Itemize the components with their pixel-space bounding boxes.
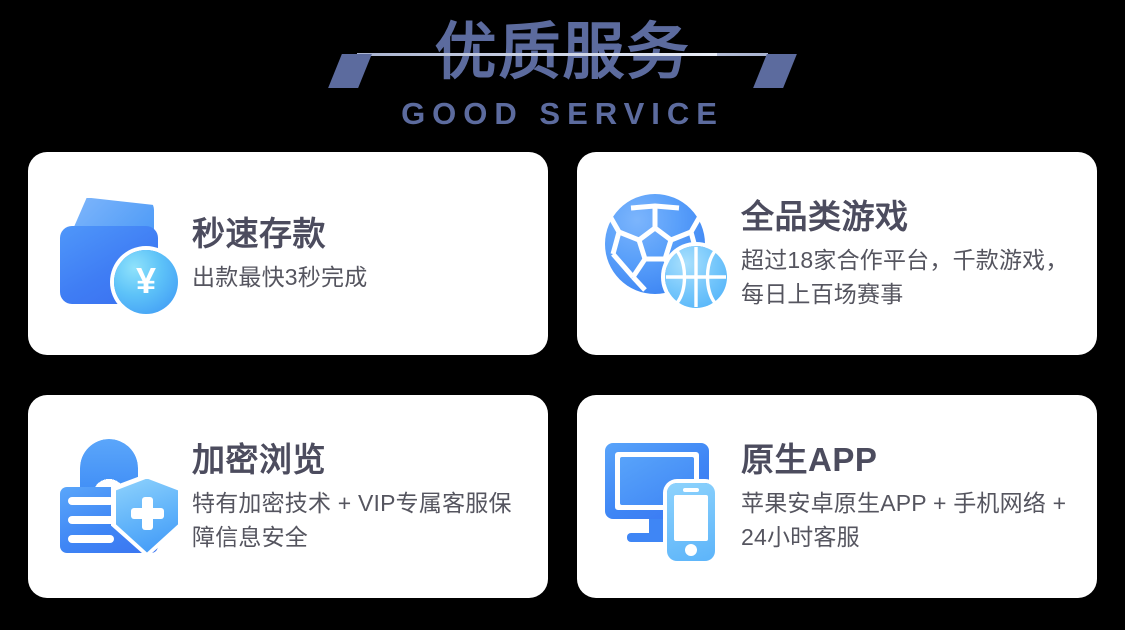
phone-home-button <box>685 544 697 556</box>
header-slash-left <box>754 54 798 88</box>
yen-symbol: ¥ <box>136 263 156 299</box>
card-title: 全品类游戏 <box>741 196 1077 238</box>
lock-stripe <box>68 497 114 505</box>
monitor-phone-icon <box>603 433 731 561</box>
card-description: 苹果安卓原生APP + 手机网络 + 24小时客服 <box>741 486 1077 554</box>
service-banner: 优质服务 GOOD SERVICE ¥ 秒速存款 <box>0 0 1125 630</box>
feature-card-native-app[interactable]: 原生APP 苹果安卓原生APP + 手机网络 + 24小时客服 <box>577 395 1097 598</box>
card-text-block: 全品类游戏 超过18家合作平台，千款游戏，每日上百场赛事 <box>741 196 1077 311</box>
header-rule-right <box>357 53 717 56</box>
feature-card-grid: ¥ 秒速存款 出款最快3秒完成 <box>28 152 1097 598</box>
wallet-yen-icon: ¥ <box>54 190 182 318</box>
soccer-basketball-icon <box>603 190 731 318</box>
card-text-block: 加密浏览 特有加密技术 + VIP专属客服保障信息安全 <box>192 439 528 554</box>
feature-card-games[interactable]: 全品类游戏 超过18家合作平台，千款游戏，每日上百场赛事 <box>577 152 1097 355</box>
yen-coin-icon: ¥ <box>114 250 178 314</box>
card-description: 超过18家合作平台，千款游戏，每日上百场赛事 <box>741 243 1077 311</box>
card-title: 秒速存款 <box>192 213 528 255</box>
page-subtitle: GOOD SERVICE <box>0 96 1125 132</box>
card-text-block: 原生APP 苹果安卓原生APP + 手机网络 + 24小时客服 <box>741 439 1077 554</box>
cross-icon <box>131 508 164 519</box>
card-text-block: 秒速存款 出款最快3秒完成 <box>192 213 528 294</box>
feature-card-encryption[interactable]: 加密浏览 特有加密技术 + VIP专属客服保障信息安全 <box>28 395 548 598</box>
feature-card-deposit[interactable]: ¥ 秒速存款 出款最快3秒完成 <box>28 152 548 355</box>
header-slash-right <box>328 54 372 88</box>
card-description: 出款最快3秒完成 <box>192 260 528 294</box>
lock-shield-icon <box>54 433 182 561</box>
phone-screen <box>674 495 708 541</box>
basketball-icon <box>665 246 727 308</box>
lock-stripe <box>68 535 114 543</box>
phone-speaker <box>683 488 699 492</box>
banner-header: 优质服务 GOOD SERVICE <box>0 0 1125 148</box>
header-title-row: 优质服务 <box>0 18 1125 88</box>
card-title: 加密浏览 <box>192 439 528 481</box>
card-description: 特有加密技术 + VIP专属客服保障信息安全 <box>192 486 528 554</box>
card-title: 原生APP <box>741 439 1077 481</box>
